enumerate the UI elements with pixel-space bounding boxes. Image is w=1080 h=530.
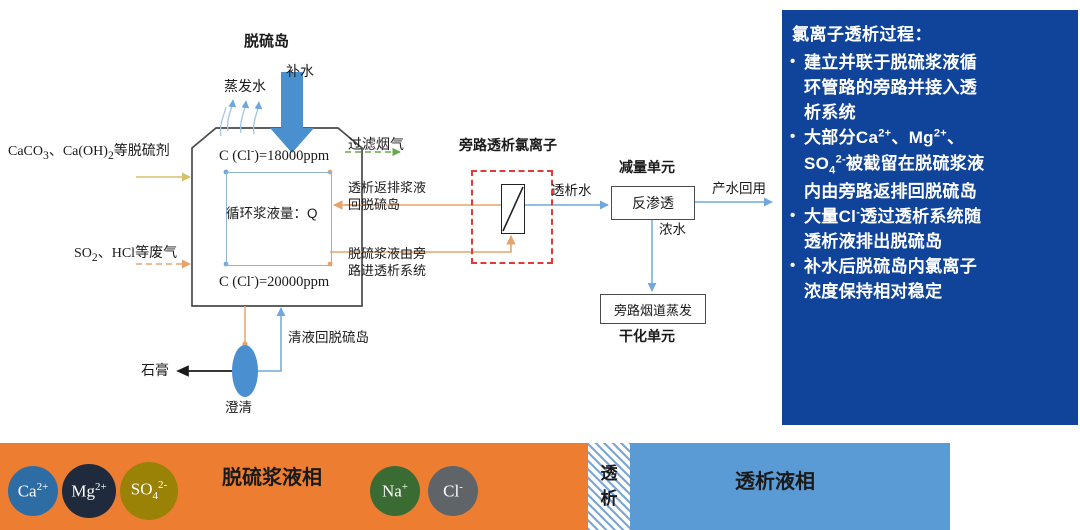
info-bullet-text: 内由旁路返排回脱硫岛 [804,180,977,204]
clarifier-vessel [232,345,258,397]
ion-label: Na+ [382,481,408,502]
label-dialysis-water: 透析水 [551,183,592,199]
dialysate-phase-label: 透析液相 [735,465,815,494]
label-drying-unit: 干化单元 [619,328,675,344]
ion-badge-mg2: Mg2+ [62,464,116,518]
label-circulating-slurry-volume: 循环浆液量：Q [226,206,318,222]
label-evaporated-water: 蒸发水 [224,78,266,94]
ro-label: 反渗透 [632,193,674,213]
label-feed-slurry-line1: 脱硫浆液由旁 [348,247,426,262]
membrane-region-label: 透 析 [588,443,630,530]
bullet-dot-icon: • [790,205,804,226]
ion-badge-ca2: Ca2+ [8,466,58,516]
bypass-flue-evap-label: 旁路烟道蒸发 [614,300,692,319]
chloride-dialysis-info-panel: 氯离子透析过程： •建立并联于脱硫浆液循环管路的旁路并接入透析系统•大部分Ca2… [782,10,1078,425]
label-clarification: 澄清 [225,400,252,416]
info-bullet-text: 补水后脱硫岛内氯离子 [804,255,977,279]
slide-canvas: 脱硫岛 补水 蒸发水 CaCO3、Ca(OH)2等脱硫剂 SO2、HCl等废气 … [0,0,1080,530]
info-panel-title: 氯离子透析过程： [792,20,1072,45]
reverse-osmosis-box[interactable]: 反渗透 [611,186,695,220]
label-waste-gas-inlet: SO2、HCl等废气 [74,246,177,264]
info-bullet-continuation: 环管路的旁路并接入透 [790,76,1072,100]
label-return-slurry-line1: 透析返排浆液 [348,181,426,196]
concentration-bottom: C (Cl-)=20000ppm [219,272,329,291]
info-bullet-text: 析系统 [804,101,856,125]
membrane-label-top: 透 [601,462,618,487]
ion-label: SO42- [131,479,167,502]
label-product-water-reuse: 产水回用 [712,181,766,197]
ion-label: Mg2+ [71,481,106,502]
label-makeup-water: 补水 [286,63,314,79]
label-reduction-unit: 减量单元 [619,159,675,175]
bullet-dot-icon: • [790,255,804,276]
info-bullet-item: •大量Cl-透过透析系统随 [790,205,1072,229]
ion-label: Ca2+ [18,481,49,502]
info-bullet-continuation: 析系统 [790,101,1072,125]
phase-legend-bar: 透 析 脱硫浆液相 透析液相 Ca2+Mg2+SO42-Na+Cl- [0,443,1080,530]
info-bullet-text: 大量Cl-透过透析系统随 [804,205,981,229]
label-feed-slurry-line2: 路进透析系统 [348,264,426,279]
ion-badge-cl: Cl- [428,466,478,516]
label-concentrate: 浓水 [659,222,686,238]
label-bypass-dialysis-chloride: 旁路透析氯离子 [459,137,557,153]
info-bullet-continuation: SO42-被截留在脱硫浆液 [790,152,1072,179]
dialysis-membrane-region: 透 析 [588,443,630,530]
membrane-label-bottom: 析 [601,487,618,512]
dialysis-membrane-module [501,184,525,234]
bullet-dot-icon: • [790,51,804,72]
info-bullet-text: 透析液排出脱硫岛 [804,230,942,254]
info-bullet-text: SO42-被截留在脱硫浆液 [804,152,984,179]
info-bullet-text: 环管路的旁路并接入透 [804,76,977,100]
title-desulfurization-island: 脱硫岛 [244,33,289,50]
label-clear-liquid-return: 清液回脱硫岛 [288,330,369,346]
bypass-flue-evaporation-box[interactable]: 旁路烟道蒸发 [600,294,706,324]
info-bullet-continuation: 浓度保持相对稳定 [790,280,1072,304]
ion-badge-group: Ca2+Mg2+SO42-Na+Cl- [0,443,588,530]
bullet-dot-icon: • [790,126,804,147]
label-return-slurry-line2: 回脱硫岛 [348,198,400,213]
concentration-top: C (Cl-)=18000ppm [219,146,329,165]
info-panel-bullet-list: •建立并联于脱硫浆液循环管路的旁路并接入透析系统•大部分Ca2+、Mg2+、SO… [790,51,1072,304]
label-filtered-flue-gas: 过滤烟气 [348,136,404,152]
info-bullet-item: •大部分Ca2+、Mg2+、 [790,126,1072,150]
info-bullet-continuation: 内由旁路返排回脱硫岛 [790,180,1072,204]
info-bullet-continuation: 透析液排出脱硫岛 [790,230,1072,254]
info-bullet-text: 浓度保持相对稳定 [804,280,942,304]
info-bullet-item: •建立并联于脱硫浆液循 [790,51,1072,75]
info-bullet-text: 大部分Ca2+、Mg2+、 [804,126,964,150]
ion-badge-so42: SO42- [120,462,178,520]
info-bullet-item: •补水后脱硫岛内氯离子 [790,255,1072,279]
label-gypsum: 石膏 [141,362,169,378]
ion-label: Cl- [443,481,463,502]
ion-badge-na: Na+ [370,466,420,516]
info-bullet-text: 建立并联于脱硫浆液循 [804,51,977,75]
label-desulfurizer-inlet: CaCO3、Ca(OH)2等脱硫剂 [8,144,170,162]
